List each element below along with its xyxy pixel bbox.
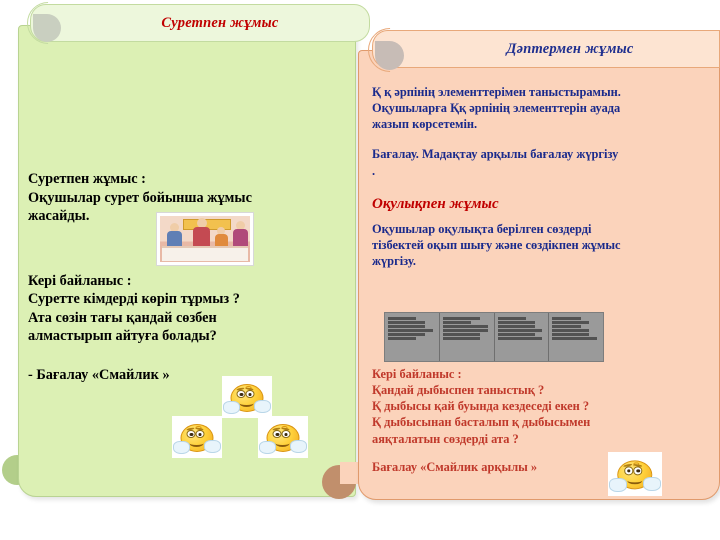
spacer: [372, 447, 720, 459]
word-table-line: [498, 329, 543, 332]
word-table-line: [552, 333, 589, 336]
smiley-pupil: [248, 393, 252, 396]
notebook-panel-title: Дәптермен жұмыс: [507, 41, 634, 58]
smiley-eye: [281, 430, 290, 438]
smiley-hand: [643, 477, 661, 490]
notebook-intro-text: Қ қ әрпінің элементтерімен таныстырамын.…: [372, 84, 720, 132]
corner-pacman-decoration: [33, 14, 61, 42]
spacer: [372, 213, 720, 221]
textbook-word-table-scan: [384, 312, 604, 362]
notebook-panel-content: Қ қ әрпінің элементтерімен таныстырамын.…: [372, 84, 720, 269]
smiley-pupil: [198, 433, 202, 436]
notebook-feedback-title: Кері байланыс :: [372, 366, 720, 382]
word-table-line: [388, 337, 416, 340]
smiley-mouth: [190, 439, 204, 447]
smiley-icon: [172, 416, 222, 458]
smiley-hand: [204, 440, 221, 453]
word-table-line: [443, 337, 480, 340]
word-table-line: [443, 317, 480, 320]
word-table-line: [388, 329, 433, 332]
spacer: [372, 179, 720, 195]
smiley-pupil: [636, 470, 640, 473]
smiley-eye: [245, 390, 254, 398]
picture-panel-title: Суретпен жұмыс: [161, 15, 278, 32]
word-table-line: [552, 325, 580, 328]
smiley-mouth: [276, 439, 290, 447]
smiley-mouth: [627, 477, 642, 485]
smiley-pupil: [284, 433, 288, 436]
smiley-mouth: [240, 399, 254, 407]
word-table-line: [443, 329, 488, 332]
smiley-icon: [258, 416, 308, 458]
word-table-line: [388, 317, 416, 320]
presentation-slide: Суретпен жұмыс Суретпен жұмыс : Оқушылар…: [0, 0, 720, 540]
smiley-eye: [187, 430, 196, 438]
smiley-pupil: [240, 393, 244, 396]
word-table-line: [498, 337, 543, 340]
word-table-line: [443, 321, 471, 324]
word-table-line: [552, 317, 580, 320]
word-table-line: [552, 329, 589, 332]
notebook-assessment-text: Бағалау. Мадақтау арқылы бағалау жүргізу…: [372, 146, 720, 178]
word-table-line: [498, 317, 526, 320]
picture-feedback-text: Кері байланыс : Суретте кімдерді көріп т…: [28, 272, 348, 346]
smiley-hand: [223, 401, 240, 414]
word-table-line: [443, 325, 488, 328]
word-table-line: [552, 337, 597, 340]
smiley-hand: [609, 478, 627, 491]
word-table-line: [388, 325, 425, 328]
notebook-feedback-content: Кері байланыс : Қандай дыбыспен таныстық…: [372, 366, 720, 475]
spacer: [28, 346, 348, 366]
word-table-column: [440, 313, 495, 361]
smiley-hand: [173, 441, 190, 454]
photo-table: [162, 246, 248, 261]
smiley-eye: [237, 390, 246, 398]
spacer: [372, 132, 720, 146]
smiley-hand: [259, 441, 276, 454]
word-table-column: [495, 313, 550, 361]
picture-panel-content: Суретпен жұмыс : Оқушылар сурет бойынша …: [28, 170, 348, 385]
word-table-line: [498, 333, 535, 336]
corner-pacman-decoration: [375, 41, 404, 70]
smiley-eye: [273, 430, 282, 438]
word-table-line: [388, 333, 425, 336]
word-table-line: [552, 321, 589, 324]
word-table-column: [385, 313, 440, 361]
picture-assessment-text: - Бағалау «Смайлик »: [28, 366, 348, 385]
word-table-column: [549, 313, 603, 361]
textbook-task-text: Оқушылар оқулықта берілген сөздерді тізб…: [372, 221, 720, 269]
smiley-icon: [608, 452, 662, 496]
notebook-feedback-questions: Қандай дыбыспен таныстық ? Қ дыбысы қай …: [372, 382, 720, 447]
notebook-final-assessment: Бағалау «Смайлик арқылы »: [372, 459, 720, 475]
picture-panel-header: Суретпен жұмыс: [30, 4, 370, 42]
smiley-eye: [624, 467, 633, 476]
smiley-hand: [254, 400, 271, 413]
smiley-hand: [290, 440, 307, 453]
panel-footer-circle-mask: [340, 462, 360, 484]
word-table-line: [443, 333, 480, 336]
word-table-line: [388, 321, 425, 324]
smiley-pupil: [627, 470, 631, 473]
smiley-eye: [633, 467, 642, 476]
smiley-pupil: [190, 433, 194, 436]
textbook-section-title: Оқулықпен жұмыс: [372, 195, 720, 213]
smiley-pupil: [276, 433, 280, 436]
word-table-line: [498, 321, 535, 324]
notebook-panel-header: Дәптермен жұмыс: [372, 30, 720, 68]
smiley-eye: [195, 430, 204, 438]
family-at-table-photo: [156, 212, 254, 266]
word-table-line: [498, 325, 535, 328]
smiley-icon: [222, 376, 272, 418]
